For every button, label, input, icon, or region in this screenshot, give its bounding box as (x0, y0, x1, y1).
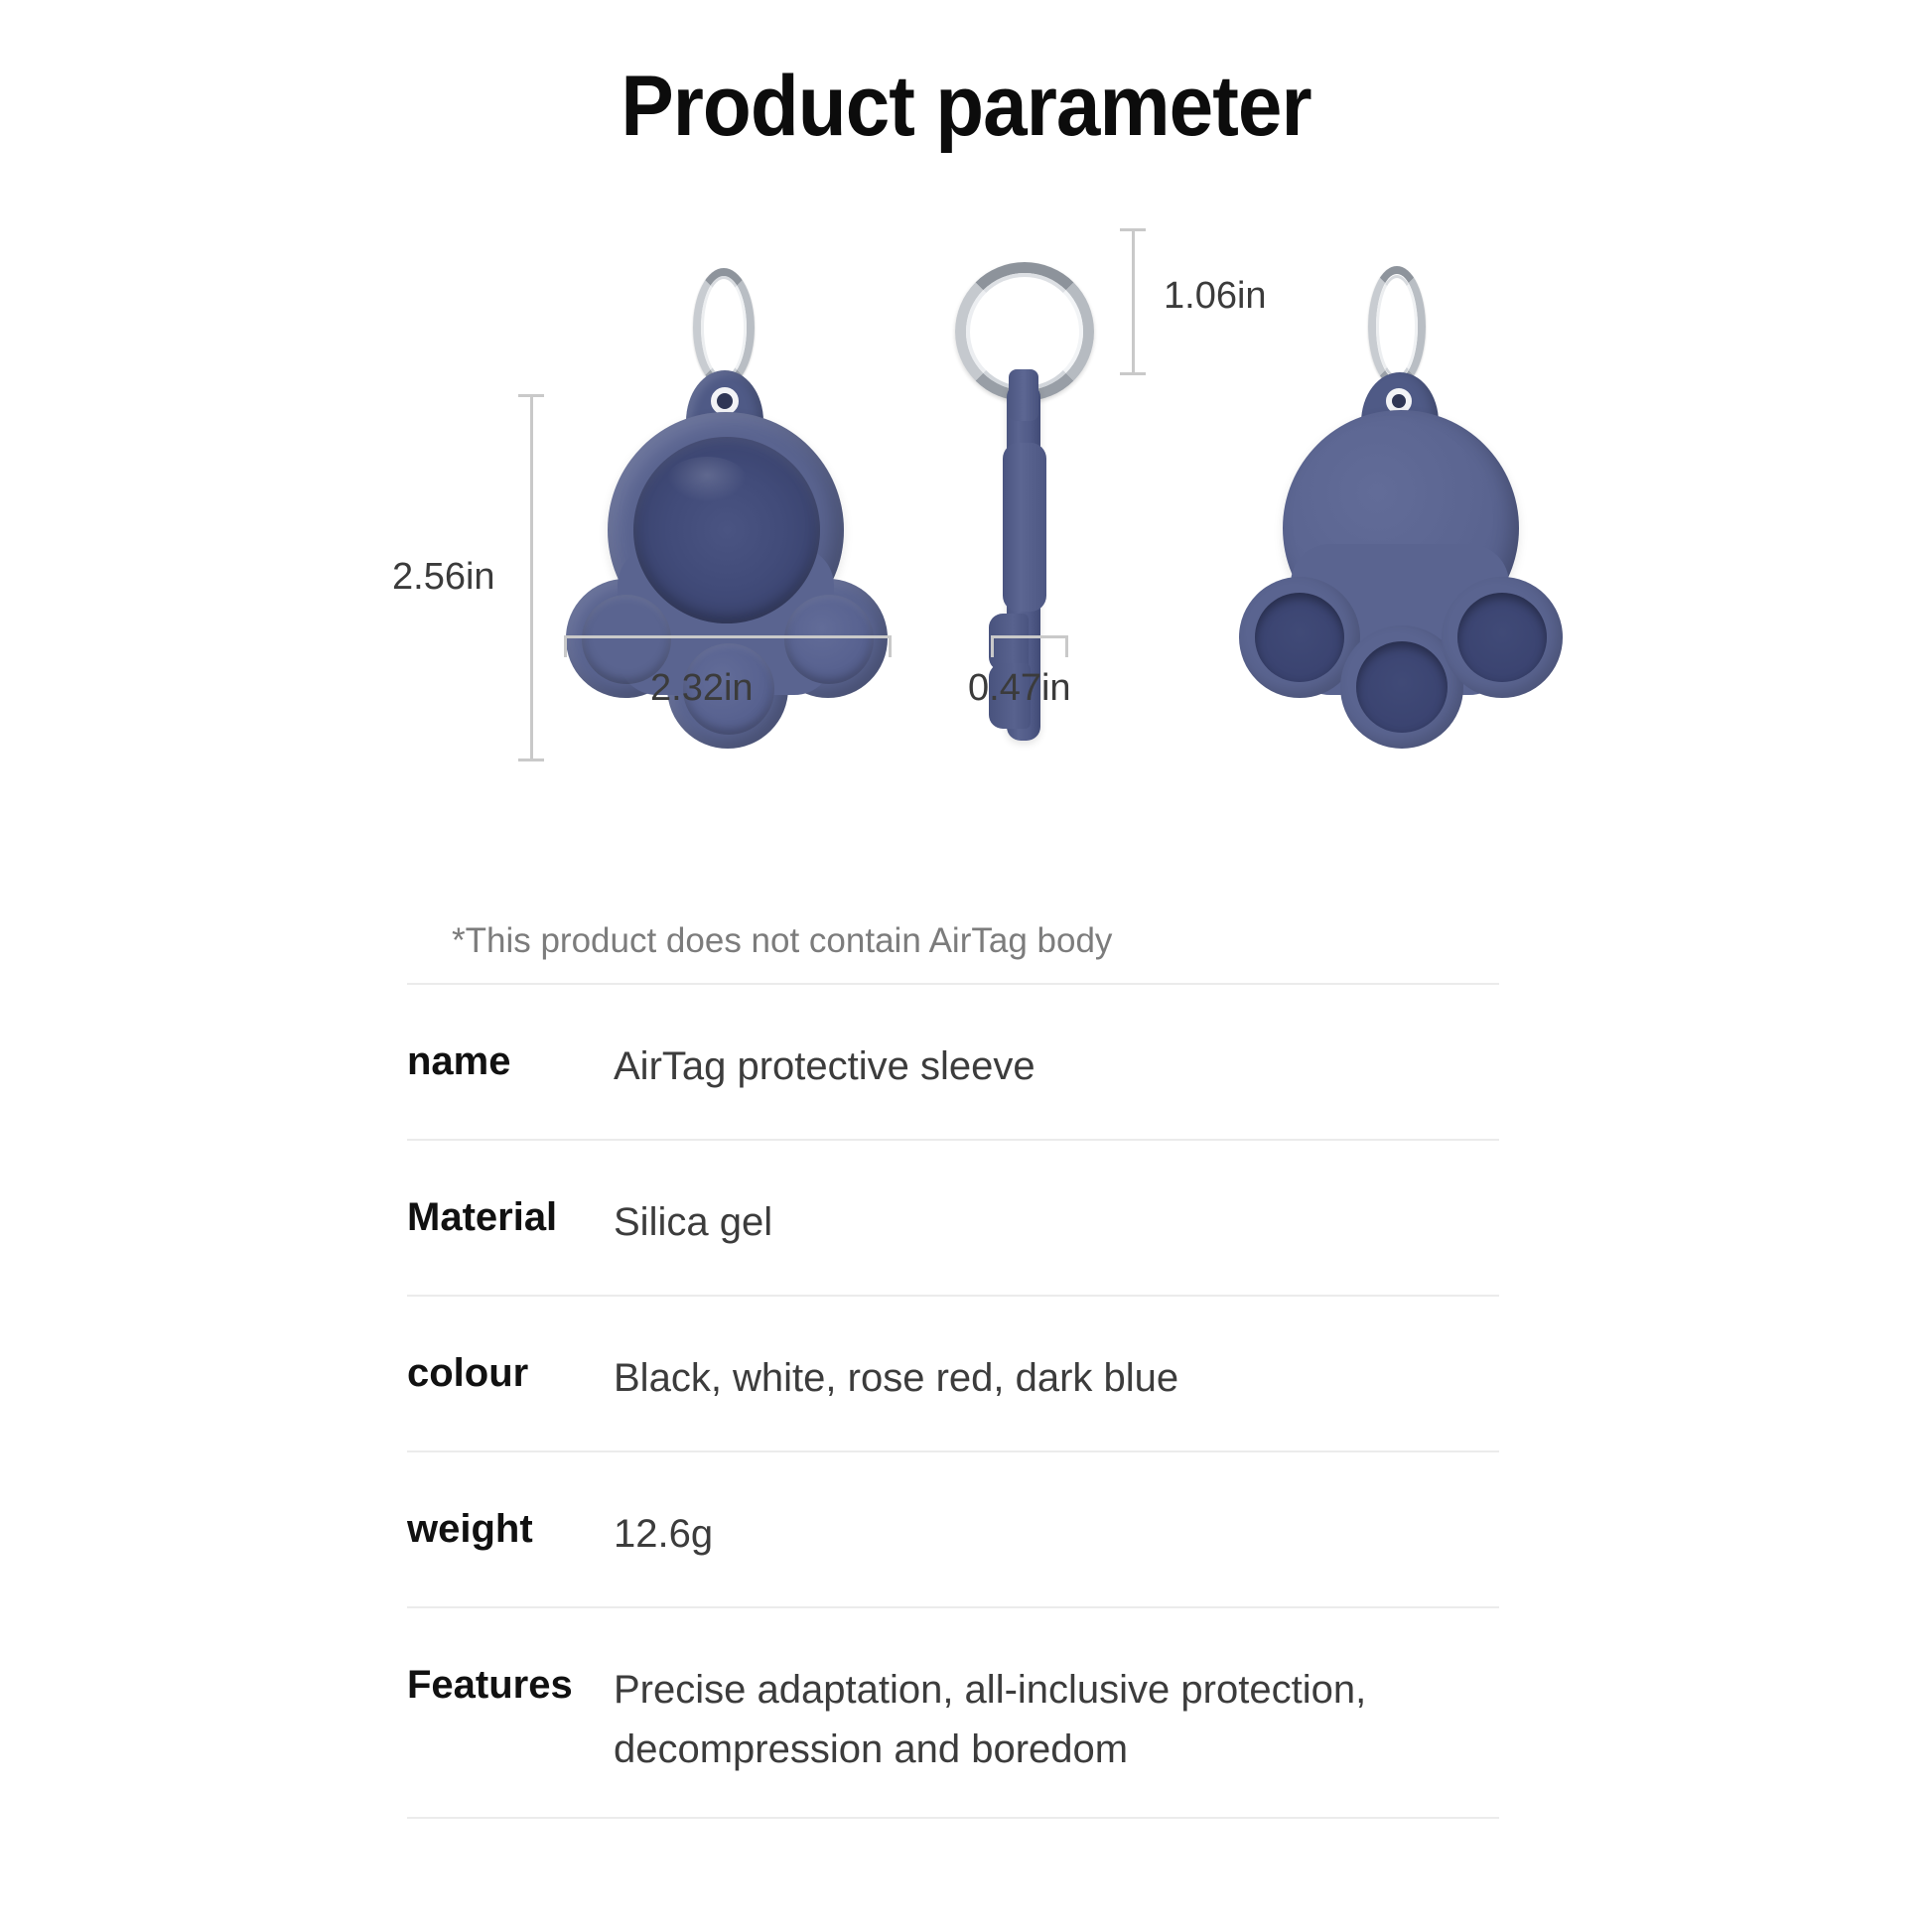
spec-key-name: name (407, 1036, 614, 1086)
spec-value-line: Black, white, rose red, dark blue (614, 1348, 1499, 1408)
back-view-toe-cavity-right (1457, 593, 1547, 682)
spec-value-line: decompression and boredom (614, 1720, 1499, 1779)
table-divider-bottom (407, 1817, 1499, 1819)
spec-key-weight: weight (407, 1504, 614, 1554)
table-row: Material Silica gel (407, 1141, 1499, 1295)
back-view (1221, 248, 1559, 804)
spec-value-features: Precise adaptation, all-inclusive protec… (614, 1660, 1499, 1779)
spec-value-line: AirTag protective sleeve (614, 1036, 1499, 1096)
side-view-hang-tab (1009, 369, 1038, 421)
height-dimension-label: 2.56in (392, 556, 495, 599)
spec-value-colour: Black, white, rose red, dark blue (614, 1348, 1499, 1408)
height-dimension-line (530, 394, 533, 761)
spec-key-features: Features (407, 1660, 614, 1710)
spec-value-weight: 12.6g (614, 1504, 1499, 1564)
width-dimension-cap-left (564, 635, 567, 657)
front-view-dome-highlight (667, 457, 747, 502)
ring-dimension-line (1132, 228, 1135, 375)
spec-value-line: Silica gel (614, 1192, 1499, 1252)
side-view (933, 248, 1132, 804)
spec-table: name AirTag protective sleeve Material S… (407, 983, 1499, 1819)
airtag-not-included-disclaimer: *This product does not contain AirTag bo… (452, 921, 1112, 961)
table-row: colour Black, white, rose red, dark blue (407, 1297, 1499, 1450)
back-view-split-ring-inner-icon (1376, 275, 1418, 378)
thickness-dimension-label: 0.47in (968, 667, 1071, 710)
split-ring-inner-icon (701, 276, 747, 379)
spec-value-line: Precise adaptation, all-inclusive protec… (614, 1660, 1499, 1720)
thickness-dimension-line (991, 635, 1068, 638)
ring-dimension-cap-top (1120, 228, 1146, 231)
width-dimension-label: 2.32in (650, 667, 754, 710)
width-dimension-line (564, 635, 892, 638)
product-illustration: 2.56in (0, 248, 1932, 884)
spec-value-material: Silica gel (614, 1192, 1499, 1252)
back-view-toe-cavity-middle (1356, 641, 1448, 733)
width-dimension-cap-right (889, 635, 892, 657)
height-dimension-cap-bottom (518, 759, 544, 761)
front-view-grommet (711, 387, 739, 415)
front-view (556, 248, 894, 804)
thickness-dimension-cap-left (991, 635, 994, 657)
height-dimension-cap-top (518, 394, 544, 397)
ring-dimension-cap-bottom (1120, 372, 1146, 375)
spec-value-line: 12.6g (614, 1504, 1499, 1564)
page-title: Product parameter (68, 58, 1864, 156)
back-view-toe-cavity-left (1255, 593, 1344, 682)
table-row: Features Precise adaptation, all-inclusi… (407, 1608, 1499, 1817)
spec-key-colour: colour (407, 1348, 614, 1398)
table-row: name AirTag protective sleeve (407, 985, 1499, 1139)
spec-value-name: AirTag protective sleeve (614, 1036, 1499, 1096)
front-view-toe-bubble-right (784, 595, 874, 684)
side-view-pocket-bulge (1003, 443, 1046, 612)
table-row: weight 12.6g (407, 1452, 1499, 1606)
thickness-dimension-cap-right (1065, 635, 1068, 657)
spec-key-material: Material (407, 1192, 614, 1242)
product-parameter-page: Product parameter 2.56in (0, 0, 1932, 1932)
